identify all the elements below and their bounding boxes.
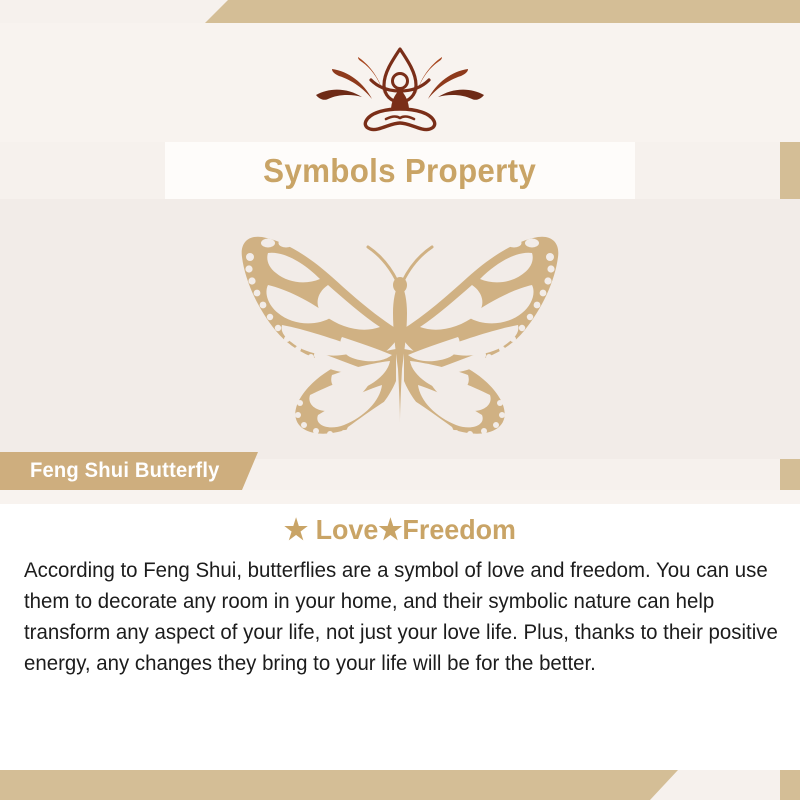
illustration-stage bbox=[0, 199, 800, 459]
content-section: ★ Love★Freedom According to Feng Shui, b… bbox=[0, 504, 800, 770]
content-paragraph: According to Feng Shui, butterflies are … bbox=[24, 555, 784, 679]
page-title: Symbols Property bbox=[264, 152, 537, 190]
gold-bottom-border bbox=[0, 770, 800, 800]
banner-bottom-strip bbox=[0, 490, 800, 504]
butterfly-icon bbox=[224, 223, 576, 450]
poster-root: BUDDHA STONES Symbols Property bbox=[0, 0, 800, 800]
content-subtitle: ★ Love★Freedom bbox=[16, 513, 784, 546]
banner-top-strip bbox=[0, 441, 800, 452]
lotus-meditation-icon bbox=[308, 47, 492, 138]
gold-top-border bbox=[0, 0, 800, 23]
header: BUDDHA STONES bbox=[0, 23, 800, 142]
section-banner: Feng Shui Butterfly bbox=[0, 452, 258, 490]
section-banner-label: Feng Shui Butterfly bbox=[30, 459, 220, 483]
title-band: Symbols Property bbox=[165, 142, 635, 199]
